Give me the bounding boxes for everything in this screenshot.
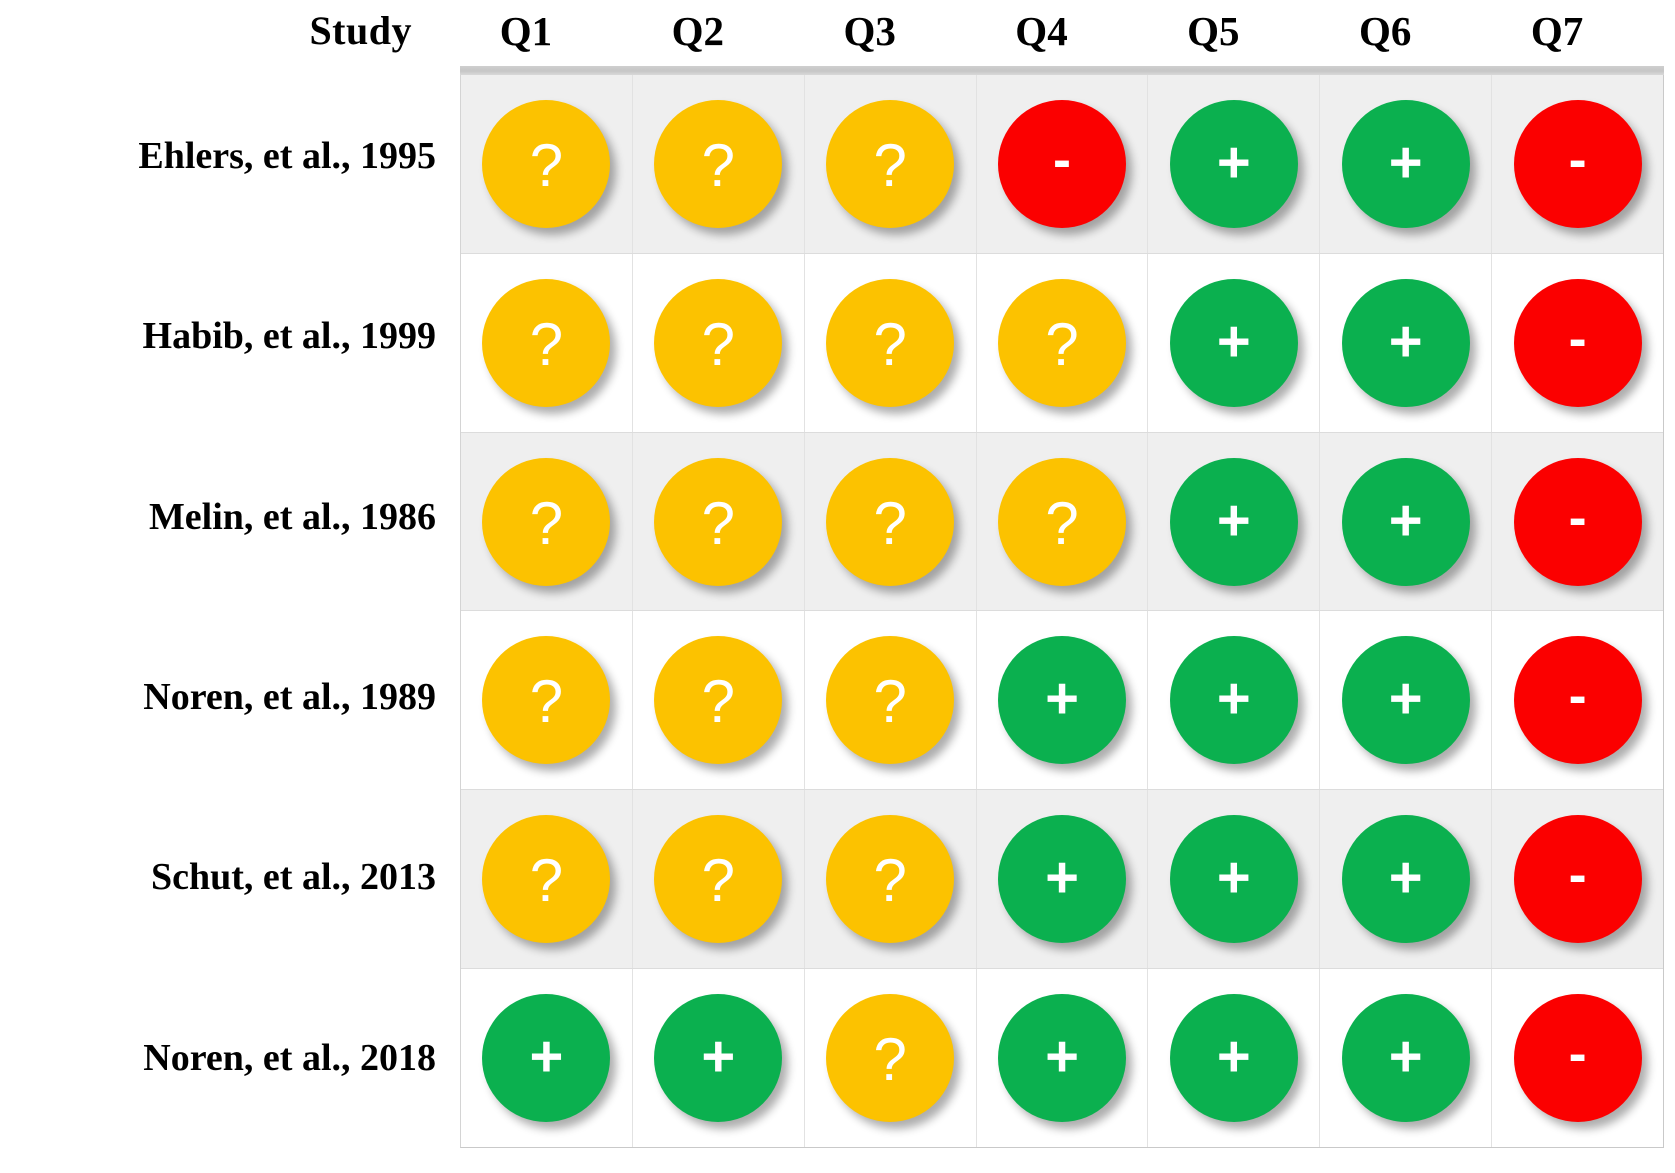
- matrix-cell: ?: [461, 611, 633, 789]
- judgement-symbol: -: [1569, 669, 1587, 723]
- column-header-q6: Q6: [1299, 11, 1471, 52]
- matrix-cell: ?: [461, 75, 633, 253]
- judgement-symbol: +: [1389, 670, 1423, 728]
- judgement-symbol: -: [1053, 133, 1071, 187]
- matrix-cell: +: [1320, 969, 1492, 1147]
- matrix-row: ????++-: [461, 254, 1663, 433]
- judgement-symbol: -: [1569, 1027, 1587, 1081]
- matrix-cell: ?: [805, 433, 977, 611]
- judgement-high-icon: -: [998, 100, 1126, 228]
- matrix-row: ???-++-: [461, 75, 1663, 254]
- judgement-symbol: +: [1389, 492, 1423, 550]
- study-label: Schut, et al., 2013: [0, 787, 452, 967]
- judgement-symbol: +: [1045, 1028, 1079, 1086]
- judgement-symbol: ?: [530, 851, 563, 911]
- column-header-q1: Q1: [440, 11, 612, 52]
- column-header-q5: Q5: [1127, 11, 1299, 52]
- matrix-cell: ?: [633, 790, 805, 968]
- matrix-cell: ?: [805, 790, 977, 968]
- judgement-unclear-icon: ?: [826, 279, 954, 407]
- judgement-unclear-icon: ?: [826, 636, 954, 764]
- matrix-cell: +: [1148, 969, 1320, 1147]
- matrix-header-row: Study Q1 Q2 Q3 Q4 Q5 Q6 Q7: [0, 0, 1675, 62]
- column-header-q4: Q4: [956, 11, 1128, 52]
- judgement-unclear-icon: ?: [826, 458, 954, 586]
- judgement-symbol: +: [1389, 134, 1423, 192]
- judgement-low-icon: +: [998, 636, 1126, 764]
- judgement-low-icon: +: [482, 994, 610, 1122]
- judgement-unclear-icon: ?: [482, 636, 610, 764]
- judgement-symbol: +: [1217, 492, 1251, 550]
- matrix-cell: +: [633, 969, 805, 1147]
- judgement-low-icon: +: [1342, 100, 1470, 228]
- judgement-symbol: ?: [702, 136, 735, 196]
- judgement-matrix: ???-++-????++-????++-???+++-???+++-++?++…: [460, 66, 1664, 1148]
- matrix-cell: +: [1148, 611, 1320, 789]
- judgement-low-icon: +: [1170, 279, 1298, 407]
- judgement-symbol: ?: [873, 494, 906, 554]
- judgement-unclear-icon: ?: [654, 636, 782, 764]
- judgement-symbol: +: [1217, 849, 1251, 907]
- matrix-cell: ?: [805, 611, 977, 789]
- judgement-high-icon: -: [1514, 100, 1642, 228]
- judgement-symbol: +: [1389, 1028, 1423, 1086]
- judgement-unclear-icon: ?: [482, 815, 610, 943]
- judgement-low-icon: +: [998, 994, 1126, 1122]
- judgement-unclear-icon: ?: [826, 815, 954, 943]
- judgement-unclear-icon: ?: [826, 994, 954, 1122]
- judgement-symbol: ?: [1045, 315, 1078, 375]
- column-header-q2: Q2: [612, 11, 784, 52]
- matrix-cell: -: [1492, 611, 1663, 789]
- judgement-low-icon: +: [1342, 636, 1470, 764]
- judgement-low-icon: +: [1342, 458, 1470, 586]
- matrix-row: ???+++-: [461, 790, 1663, 969]
- judgement-symbol: ?: [873, 1030, 906, 1090]
- study-label: Habib, et al., 1999: [0, 246, 452, 426]
- matrix-cell: +: [1148, 75, 1320, 253]
- study-label: Noren, et al., 2018: [0, 968, 452, 1148]
- judgement-low-icon: +: [1342, 815, 1470, 943]
- judgement-low-icon: +: [998, 815, 1126, 943]
- judgement-high-icon: -: [1514, 279, 1642, 407]
- matrix-cell: +: [1320, 790, 1492, 968]
- judgement-symbol: ?: [702, 315, 735, 375]
- judgement-symbol: +: [1389, 849, 1423, 907]
- judgement-unclear-icon: ?: [482, 458, 610, 586]
- judgement-unclear-icon: ?: [482, 100, 610, 228]
- judgement-unclear-icon: ?: [482, 279, 610, 407]
- judgement-symbol: ?: [530, 672, 563, 732]
- judgement-low-icon: +: [1170, 458, 1298, 586]
- matrix-cell: -: [1492, 969, 1663, 1147]
- matrix-cell: +: [1148, 433, 1320, 611]
- judgement-low-icon: +: [1170, 994, 1298, 1122]
- study-column-header: Study: [0, 11, 440, 51]
- matrix-cell: ?: [977, 254, 1149, 432]
- matrix-row: ????++-: [461, 433, 1663, 612]
- matrix-top-bar: [460, 66, 1664, 75]
- matrix-cell: +: [977, 790, 1149, 968]
- judgement-symbol: -: [1569, 491, 1587, 545]
- judgement-symbol: ?: [530, 315, 563, 375]
- matrix-cell: ?: [461, 790, 633, 968]
- matrix-cell: ?: [977, 433, 1149, 611]
- judgement-symbol: +: [1217, 134, 1251, 192]
- judgement-unclear-icon: ?: [654, 100, 782, 228]
- matrix-cell: +: [977, 611, 1149, 789]
- matrix-cell: ?: [805, 254, 977, 432]
- matrix-cell: -: [1492, 254, 1663, 432]
- judgement-low-icon: +: [1170, 636, 1298, 764]
- matrix-cell: ?: [633, 611, 805, 789]
- matrix-cell: +: [977, 969, 1149, 1147]
- judgement-unclear-icon: ?: [654, 458, 782, 586]
- matrix-cell: -: [1492, 790, 1663, 968]
- judgement-symbol: ?: [873, 851, 906, 911]
- question-column-headers: Q1 Q2 Q3 Q4 Q5 Q6 Q7: [440, 11, 1643, 52]
- column-header-q3: Q3: [784, 11, 956, 52]
- matrix-row: ???+++-: [461, 611, 1663, 790]
- matrix-cell: +: [461, 969, 633, 1147]
- matrix-cell: -: [1492, 75, 1663, 253]
- matrix-cell: +: [1320, 433, 1492, 611]
- judgement-high-icon: -: [1514, 815, 1642, 943]
- matrix-cell: +: [1148, 790, 1320, 968]
- judgement-symbol: ?: [702, 494, 735, 554]
- judgement-symbol: ?: [702, 672, 735, 732]
- matrix-cell: ?: [633, 254, 805, 432]
- judgement-unclear-icon: ?: [998, 279, 1126, 407]
- matrix-cell: ?: [633, 433, 805, 611]
- judgement-symbol: ?: [873, 315, 906, 375]
- study-label: Melin, et al., 1986: [0, 427, 452, 607]
- matrix-cell: ?: [805, 969, 977, 1147]
- judgement-low-icon: +: [1342, 994, 1470, 1122]
- judgement-symbol: ?: [1045, 494, 1078, 554]
- judgement-symbol: ?: [530, 136, 563, 196]
- study-label: Noren, et al., 1989: [0, 607, 452, 787]
- matrix-cell: +: [1320, 254, 1492, 432]
- judgement-low-icon: +: [1342, 279, 1470, 407]
- judgement-high-icon: -: [1514, 458, 1642, 586]
- judgement-symbol: ?: [873, 672, 906, 732]
- column-header-q7: Q7: [1471, 11, 1643, 52]
- judgement-high-icon: -: [1514, 636, 1642, 764]
- matrix-cell: -: [1492, 433, 1663, 611]
- matrix-cell: +: [1148, 254, 1320, 432]
- risk-of-bias-figure: Study Q1 Q2 Q3 Q4 Q5 Q6 Q7 Ehlers, et al…: [0, 0, 1675, 1173]
- judgement-unclear-icon: ?: [654, 279, 782, 407]
- judgement-symbol: -: [1569, 133, 1587, 187]
- judgement-symbol: +: [1389, 313, 1423, 371]
- judgement-symbol: +: [1045, 670, 1079, 728]
- matrix-cell: +: [1320, 75, 1492, 253]
- matrix-cell: ?: [633, 75, 805, 253]
- matrix-cell: ?: [461, 254, 633, 432]
- judgement-unclear-icon: ?: [826, 100, 954, 228]
- judgement-symbol: ?: [530, 494, 563, 554]
- judgement-unclear-icon: ?: [998, 458, 1126, 586]
- judgement-low-icon: +: [1170, 100, 1298, 228]
- matrix-row: ++?+++-: [461, 969, 1663, 1147]
- matrix-cell: +: [1320, 611, 1492, 789]
- matrix-cell: -: [977, 75, 1149, 253]
- judgement-symbol: +: [1045, 849, 1079, 907]
- judgement-symbol: +: [1217, 313, 1251, 371]
- matrix-cell: ?: [805, 75, 977, 253]
- matrix-body: ???-++-????++-????++-???+++-???+++-++?++…: [460, 75, 1664, 1148]
- judgement-symbol: +: [1217, 1028, 1251, 1086]
- judgement-low-icon: +: [1170, 815, 1298, 943]
- study-label-column: Ehlers, et al., 1995 Habib, et al., 1999…: [0, 66, 452, 1148]
- judgement-symbol: ?: [702, 851, 735, 911]
- study-label: Ehlers, et al., 1995: [0, 66, 452, 246]
- matrix-cell: ?: [461, 433, 633, 611]
- judgement-symbol: -: [1569, 848, 1587, 902]
- judgement-symbol: +: [1217, 670, 1251, 728]
- judgement-low-icon: +: [654, 994, 782, 1122]
- judgement-high-icon: -: [1514, 994, 1642, 1122]
- judgement-symbol: +: [529, 1028, 563, 1086]
- judgement-symbol: -: [1569, 312, 1587, 366]
- judgement-symbol: +: [701, 1028, 735, 1086]
- judgement-unclear-icon: ?: [654, 815, 782, 943]
- judgement-symbol: ?: [873, 136, 906, 196]
